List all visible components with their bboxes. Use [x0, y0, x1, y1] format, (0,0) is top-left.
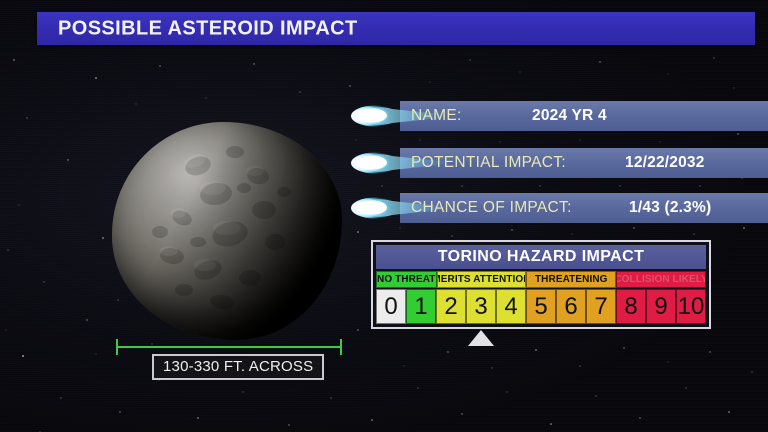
size-measure-cap-left: [116, 339, 118, 355]
torino-level-8: 8: [616, 289, 646, 324]
torino-panel-title: TORINO HAZARD IMPACT: [376, 245, 706, 269]
torino-level-row: 012345678910: [376, 289, 706, 324]
torino-level-7: 7: [586, 289, 616, 324]
torino-level-marker: [468, 330, 494, 346]
info-label: NAME:: [411, 107, 462, 125]
broadcast-graphic-screen: POSSIBLE ASTEROID IMPACT: [0, 0, 768, 432]
info-row-chance-of-impact: CHANCE OF IMPACT: 1/43 (2.3%): [348, 193, 768, 223]
torino-level-2: 2: [436, 289, 466, 324]
torino-level-6: 6: [556, 289, 586, 324]
torino-level-9: 9: [646, 289, 676, 324]
headline-banner: POSSIBLE ASTEROID IMPACT: [37, 12, 755, 45]
torino-level-3: 3: [466, 289, 496, 324]
size-measure-line: [116, 346, 342, 348]
asteroid-illustration: [112, 122, 342, 340]
asteroid-shadow: [112, 122, 342, 340]
size-measure-cap-right: [340, 339, 342, 355]
torino-level-1: 1: [406, 289, 436, 324]
page-title: POSSIBLE ASTEROID IMPACT: [58, 17, 358, 40]
torino-category: NO THREAT: [376, 271, 437, 288]
torino-hazard-scale-panel: TORINO HAZARD IMPACT NO THREATMERITS ATT…: [371, 240, 711, 329]
info-value: 2024 YR 4: [532, 107, 607, 125]
torino-category: COLLISION LIKELY: [616, 271, 706, 288]
info-row-potential-impact: POTENTIAL IMPACT: 12/22/2032: [348, 148, 768, 178]
torino-category-row: NO THREATMERITS ATTENTIONTHREATENINGCOLL…: [376, 271, 706, 288]
info-value: 1/43 (2.3%): [629, 199, 711, 217]
torino-category: THREATENING: [526, 271, 616, 288]
torino-level-5: 5: [526, 289, 556, 324]
info-label: POTENTIAL IMPACT:: [411, 154, 566, 172]
torino-level-4: 4: [496, 289, 526, 324]
torino-level-10: 10: [676, 289, 706, 324]
info-row-name: NAME: 2024 YR 4: [348, 101, 768, 131]
info-label: CHANCE OF IMPACT:: [411, 199, 572, 217]
torino-level-0: 0: [376, 289, 406, 324]
asteroid-size-label: 130-330 FT. ACROSS: [152, 354, 324, 380]
asteroid-body: [112, 122, 342, 340]
info-value: 12/22/2032: [625, 154, 705, 172]
torino-category: MERITS ATTENTION: [437, 271, 527, 288]
